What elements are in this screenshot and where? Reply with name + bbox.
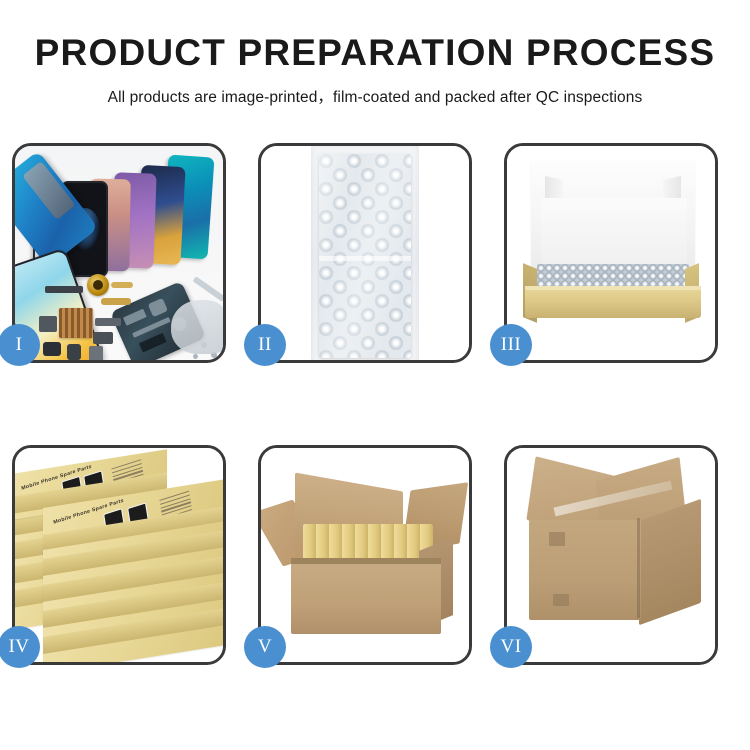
step-panel-4: Mobile Phone Spare Parts Mobile Phon xyxy=(12,445,226,665)
sealed-carton-side-icon xyxy=(639,499,701,626)
camera-module-icon xyxy=(67,344,81,360)
kraft-box-base-icon xyxy=(525,288,701,318)
hand-icon xyxy=(171,300,223,354)
step-numeral: IV xyxy=(8,636,29,658)
step-1-image xyxy=(15,146,223,360)
step-numeral: V xyxy=(258,636,272,658)
step-4-image: Mobile Phone Spare Parts Mobile Phon xyxy=(15,448,223,662)
flex-cable-icon xyxy=(111,282,133,288)
bubble-wrap-pouch-icon xyxy=(311,146,419,360)
step-2-image xyxy=(261,146,469,360)
step-3-image xyxy=(507,146,715,360)
tweezers-icon xyxy=(193,276,223,302)
step-panel-2: II xyxy=(258,143,472,363)
step-panel-3: III xyxy=(504,143,718,363)
step-numeral: I xyxy=(16,334,23,356)
speaker-icon xyxy=(43,342,61,356)
step-badge-5: V xyxy=(244,626,286,668)
page-subtitle: All products are image-printed，film-coat… xyxy=(0,85,750,107)
small-part-icon xyxy=(93,332,113,344)
foam-liner-icon xyxy=(541,198,687,264)
process-steps-grid: I II xyxy=(12,143,738,665)
step-panel-6: VI xyxy=(504,445,718,665)
small-part-icon xyxy=(95,318,121,326)
step-badge-1: I xyxy=(0,324,40,366)
step-5-image xyxy=(261,448,469,662)
page-title: PRODUCT PREPARATION PROCESS xyxy=(0,34,750,73)
small-part-icon xyxy=(39,316,57,332)
step-badge-3: III xyxy=(490,324,532,366)
flex-cable-icon xyxy=(101,298,131,305)
step-numeral: VI xyxy=(500,636,521,658)
stacked-boxes-icon: Mobile Phone Spare Parts Mobile Phon xyxy=(15,448,223,662)
carton-front-icon xyxy=(291,560,441,634)
step-badge-2: II xyxy=(244,324,286,366)
step-numeral: III xyxy=(501,334,521,356)
screw-icon xyxy=(193,354,198,359)
speaker-coil-icon xyxy=(87,274,109,296)
step-badge-4: IV xyxy=(0,626,40,668)
header: PRODUCT PREPARATION PROCESS All products… xyxy=(0,0,750,107)
connector-grid-icon xyxy=(59,308,93,338)
step-badge-6: VI xyxy=(490,626,532,668)
antenna-strip-icon xyxy=(45,286,83,293)
step-panel-5: V xyxy=(258,445,472,665)
product-preparation-infographic: PRODUCT PREPARATION PROCESS All products… xyxy=(0,0,750,750)
battery-connector-icon xyxy=(89,346,103,360)
step-panel-1: I xyxy=(12,143,226,363)
sealed-carton-front-icon xyxy=(529,520,641,620)
carton-tab-icon xyxy=(549,532,565,546)
carton-tab-icon xyxy=(553,594,569,606)
step-6-image xyxy=(507,448,715,662)
step-numeral: II xyxy=(258,334,272,356)
